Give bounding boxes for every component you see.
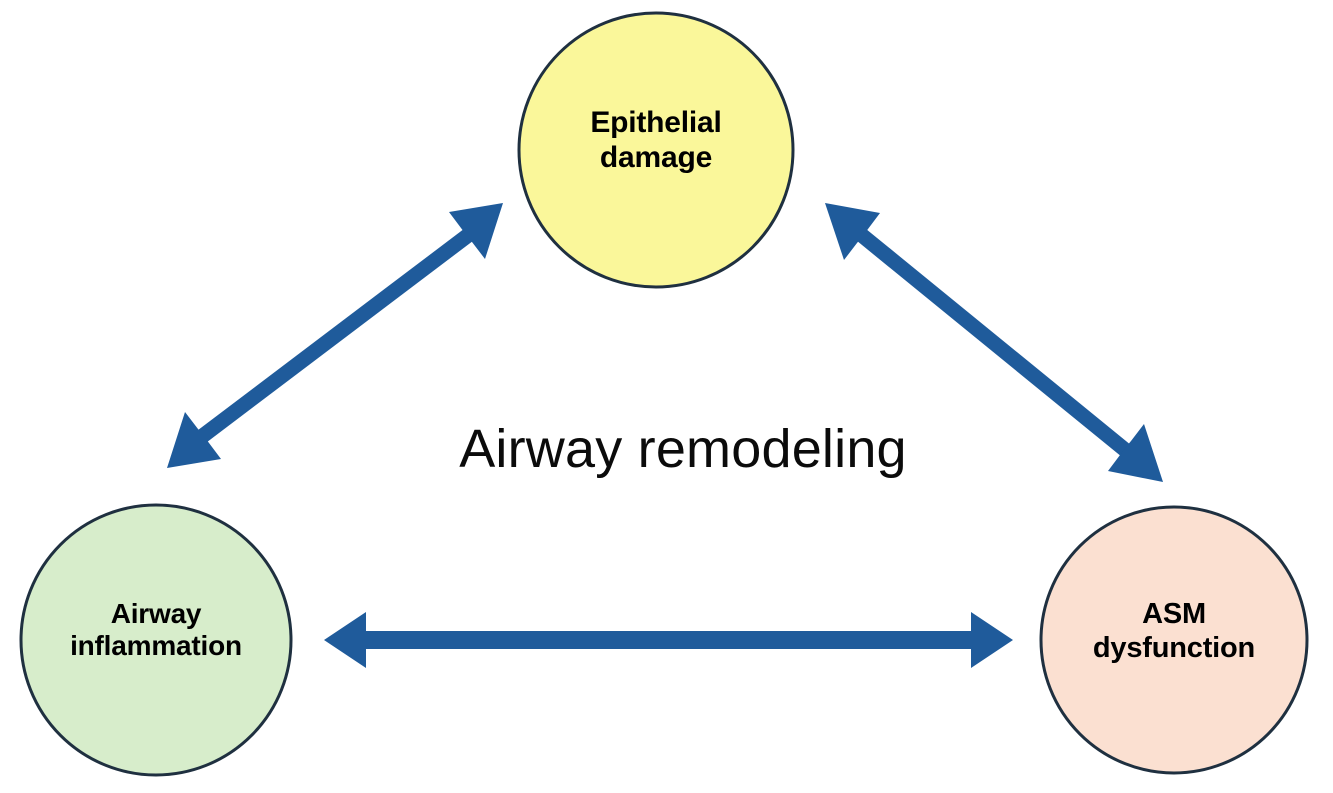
arrowhead-toward-inflammation	[324, 612, 366, 668]
connector-inflammation-asm	[324, 612, 1013, 668]
airway-remodeling-diagram: Epithelial damage Airway inflammation AS…	[0, 0, 1333, 793]
connector-shaft	[853, 228, 1135, 458]
connector-shaft	[196, 230, 475, 441]
connector-inflammation-epithelial	[167, 203, 503, 468]
diagram-canvas	[0, 0, 1333, 793]
connector-shaft	[360, 631, 977, 649]
node-airway-inflammation[interactable]	[21, 505, 291, 775]
node-epithelial-damage[interactable]	[519, 13, 793, 287]
node-asm-dysfunction[interactable]	[1041, 507, 1307, 773]
arrowhead-toward-asm	[1108, 424, 1163, 482]
arrowhead-toward-asm	[971, 612, 1013, 668]
connector-epithelial-asm	[825, 203, 1163, 482]
